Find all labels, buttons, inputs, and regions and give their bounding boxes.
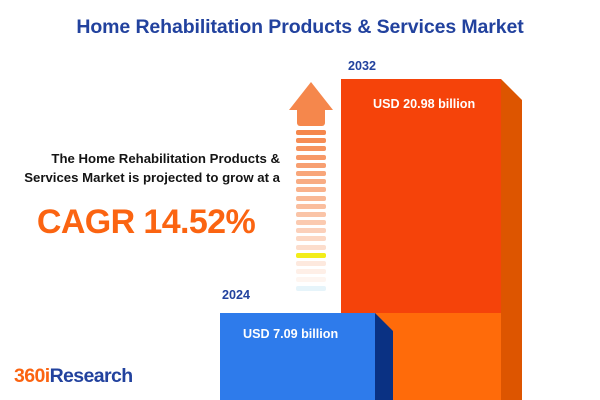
bar-2024-year-label: 2024: [222, 288, 250, 302]
arrow-stripe: [296, 155, 326, 160]
growth-arrow-icon: [289, 82, 333, 290]
bar-2032-value-label: USD 20.98 billion: [373, 97, 475, 111]
brand-logo: 360iResearch: [14, 365, 133, 388]
arrow-stripe: [296, 171, 326, 176]
arrow-stripe: [296, 261, 326, 266]
arrow-stripe: [296, 130, 326, 135]
page-title: Home Rehabilitation Products & Services …: [0, 16, 600, 39]
bar-2032-side-face: [501, 79, 522, 400]
arrow-stripe: [296, 204, 326, 209]
arrow-stripe: [296, 146, 326, 151]
arrow-stripe: [296, 245, 326, 250]
arrow-stripe: [296, 228, 326, 233]
arrow-stripe: [296, 179, 326, 184]
arrow-stripe: [296, 253, 326, 258]
arrow-stripe: [296, 212, 326, 217]
cagr-value: CAGR 14.52%: [12, 203, 280, 241]
bar-2032-year-label: 2032: [348, 59, 376, 73]
arrow-stripe: [296, 187, 326, 192]
arrow-stripe: [296, 196, 326, 201]
arrow-stripe: [296, 277, 326, 282]
market-size-infographic: Home Rehabilitation Products & Services …: [0, 0, 600, 400]
growth-statement: The Home Rehabilitation Products & Servi…: [12, 150, 280, 187]
arrow-head-icon: [289, 82, 333, 110]
arrow-stripe: [296, 138, 326, 143]
arrow-stripe: [296, 269, 326, 274]
brand-logo-360i: 360i: [14, 365, 50, 387]
arrow-stripe: [296, 286, 326, 291]
arrow-stripe: [296, 220, 326, 225]
bar-2024-value-label: USD 7.09 billion: [243, 327, 338, 341]
arrow-stripes-icon: [296, 130, 326, 288]
arrow-neck-icon: [297, 110, 325, 126]
arrow-stripe: [296, 163, 326, 168]
brand-logo-research: Research: [50, 365, 133, 387]
arrow-stripe: [296, 236, 326, 241]
